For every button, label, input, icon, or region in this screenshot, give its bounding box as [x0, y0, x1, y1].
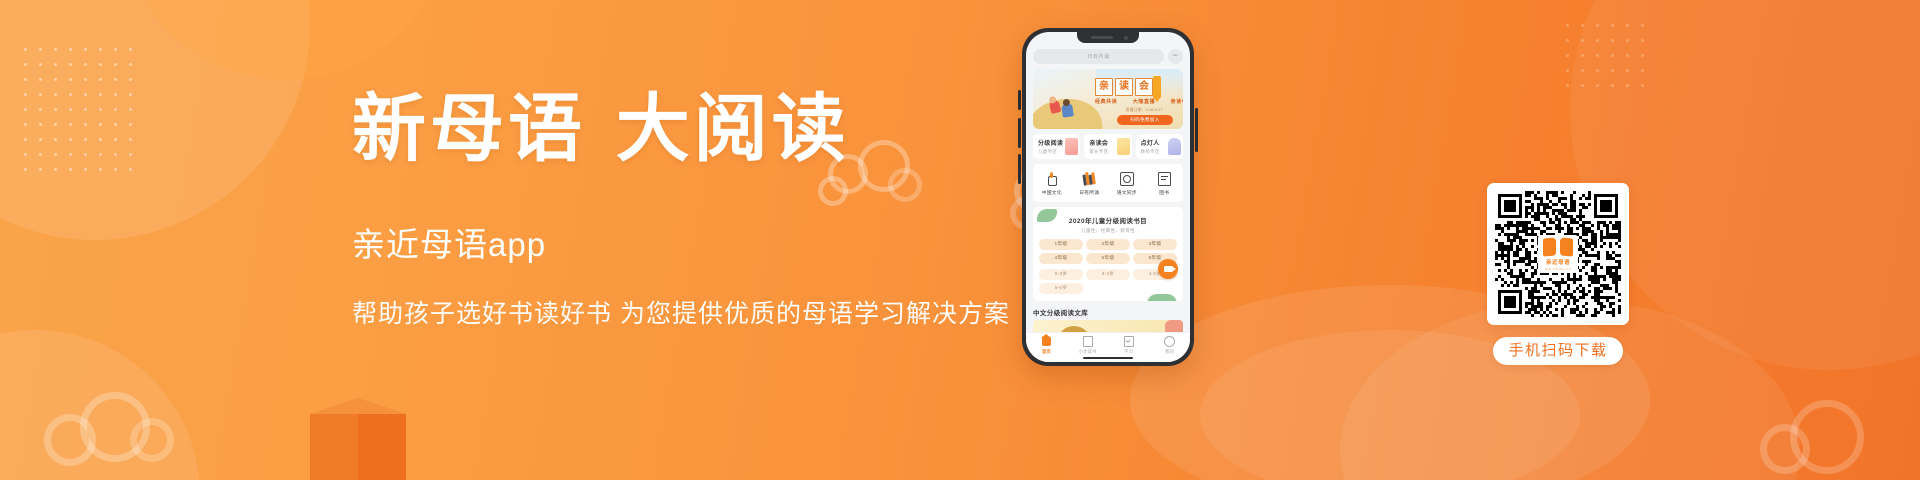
phone-power-button — [1195, 108, 1198, 152]
hero-features: 经典共读 大咖直播 亲读者说 — [1095, 98, 1183, 105]
download-button[interactable]: 手机扫码下载 — [1493, 337, 1623, 365]
category-cards: 分级阅读 儿童专区 亲读会 家长专区 点灯人 教师专区 — [1033, 134, 1183, 159]
profile-icon — [1149, 336, 1190, 347]
decor-circle-top-left — [0, 0, 310, 240]
decor-circle-top-left-2 — [120, 0, 450, 80]
category-card-graded-reading[interactable]: 分级阅读 儿童专区 — [1033, 134, 1080, 159]
app-hero-banner[interactable]: · ·· · 亲 读 会 经典共读 大咖直播 亲读者说 直播日期：9.16-9.… — [1033, 69, 1183, 129]
grade-chip[interactable]: 4年级 — [1039, 253, 1083, 264]
brand-logo: 亲近母语 QIN JIN MU YU — [1538, 235, 1578, 273]
tagline: 帮助孩子选好书读好书 为您提供优质的母语学习解决方案 — [352, 294, 1012, 330]
phone-screen: 日有所诵 ••• · ·· · 亲 读 会 — [1026, 32, 1190, 362]
quick-link-daily-recitation[interactable]: 日有所诵 — [1071, 171, 1107, 196]
birds-icon: · ·· · — [1047, 80, 1067, 85]
note-icon — [1117, 138, 1130, 155]
decor-cube — [310, 398, 406, 480]
tab-reading[interactable]: 小步读书 — [1067, 336, 1108, 355]
phone-mockup: 日有所诵 ••• · ·· · 亲 读 会 — [1022, 28, 1194, 366]
book-stack-icon — [1071, 171, 1107, 187]
more-icon[interactable]: ••• — [1168, 49, 1183, 64]
grade-chip[interactable]: 2年级 — [1086, 239, 1130, 250]
promo-banner: 新母语 大阅读 亲近母语app 帮助孩子选好书读好书 为您提供优质的母语学习解决… — [0, 0, 1920, 480]
video-play-icon[interactable] — [1158, 259, 1178, 279]
home-icon — [1026, 336, 1067, 347]
qr-code: 亲近母语 QIN JIN MU YU — [1487, 183, 1629, 325]
category-card-reading-club[interactable]: 亲读会 家长专区 — [1084, 134, 1131, 159]
open-book-icon — [1543, 238, 1573, 256]
camera-icon — [1124, 36, 1128, 40]
hero-date: 直播日期：9.16-9.27 — [1095, 107, 1183, 113]
quick-link-textbook-sync[interactable]: 语文同步 — [1109, 171, 1145, 196]
age-chip[interactable]: 0-3岁 — [1039, 269, 1083, 280]
phone-notch — [1077, 32, 1139, 43]
lamp-icon — [1034, 171, 1070, 187]
tab-profile[interactable]: 我的 — [1149, 336, 1190, 355]
age-chip[interactable]: 5-6岁 — [1039, 283, 1083, 294]
person-icon — [1168, 138, 1181, 155]
booklist-card: 2020年儿童分级阅读书目 儿童性、经典性、教育性 1年级 2年级 3年级 4年… — [1033, 207, 1183, 301]
ribbon-icon — [1153, 76, 1161, 98]
child-illustration-2 — [1061, 103, 1074, 117]
speaker-icon — [1091, 36, 1113, 39]
reading-icon — [1067, 336, 1108, 347]
book-icon — [1146, 171, 1182, 187]
phone-volume-down-button — [1018, 154, 1021, 184]
age-chips: 0-3岁 3-4岁 4-5岁 5-6岁 — [1039, 269, 1177, 294]
copy-block: 新母语 大阅读 亲近母语app 帮助孩子选好书读好书 为您提供优质的母语学习解决… — [352, 92, 1012, 330]
tab-home[interactable]: 首页 — [1026, 336, 1067, 355]
booklist-title: 2020年儿童分级阅读书目 — [1039, 215, 1177, 225]
brand-name-pinyin: QIN JIN MU YU — [1545, 267, 1571, 271]
decor-dot-grid-right — [1560, 18, 1655, 98]
study-icon — [1108, 336, 1149, 347]
home-indicator — [1083, 357, 1133, 359]
quick-links: 中国文化 日有所诵 语文同步 图书 — [1033, 164, 1183, 202]
page-title: 新母语 大阅读 — [352, 92, 1012, 166]
search-placeholder: 日有所诵 — [1087, 53, 1109, 60]
phone-mute-switch — [1018, 90, 1021, 110]
grade-chip[interactable]: 3年级 — [1133, 239, 1177, 250]
decor-dot-grid-left — [18, 42, 138, 182]
library-title: 中文分级阅读文库 — [1033, 307, 1183, 317]
category-card-lamp-lighter[interactable]: 点灯人 教师专区 — [1136, 134, 1183, 159]
bookmark-icon — [1065, 138, 1078, 155]
leaf-icon-2 — [1147, 294, 1177, 301]
hero-title: 亲 读 会 — [1095, 78, 1153, 96]
app-name: 亲近母语app — [352, 218, 1012, 266]
age-chip[interactable]: 3-4岁 — [1086, 269, 1130, 280]
app-search-row: 日有所诵 ••• — [1033, 49, 1183, 64]
sync-icon — [1109, 171, 1145, 187]
quick-link-chinese-culture[interactable]: 中国文化 — [1034, 171, 1070, 196]
brand-name: 亲近母语 — [1546, 258, 1570, 266]
booklist-subtitle: 儿童性、经典性、教育性 — [1039, 228, 1177, 234]
grade-chips: 1年级 2年级 3年级 4年级 5年级 6年级 — [1039, 239, 1177, 264]
search-input[interactable]: 日有所诵 — [1033, 49, 1164, 64]
quick-link-books[interactable]: 图书 — [1146, 171, 1182, 196]
hero-cta-button[interactable]: 扫码免费加入 — [1117, 115, 1173, 125]
grade-chip[interactable]: 1年级 — [1039, 239, 1083, 250]
phone-volume-up-button — [1018, 118, 1021, 148]
tab-study[interactable]: 学习 — [1108, 336, 1149, 355]
qr-block: 亲近母语 QIN JIN MU YU 手机扫码下载 — [1487, 183, 1629, 365]
grade-chip[interactable]: 5年级 — [1086, 253, 1130, 264]
